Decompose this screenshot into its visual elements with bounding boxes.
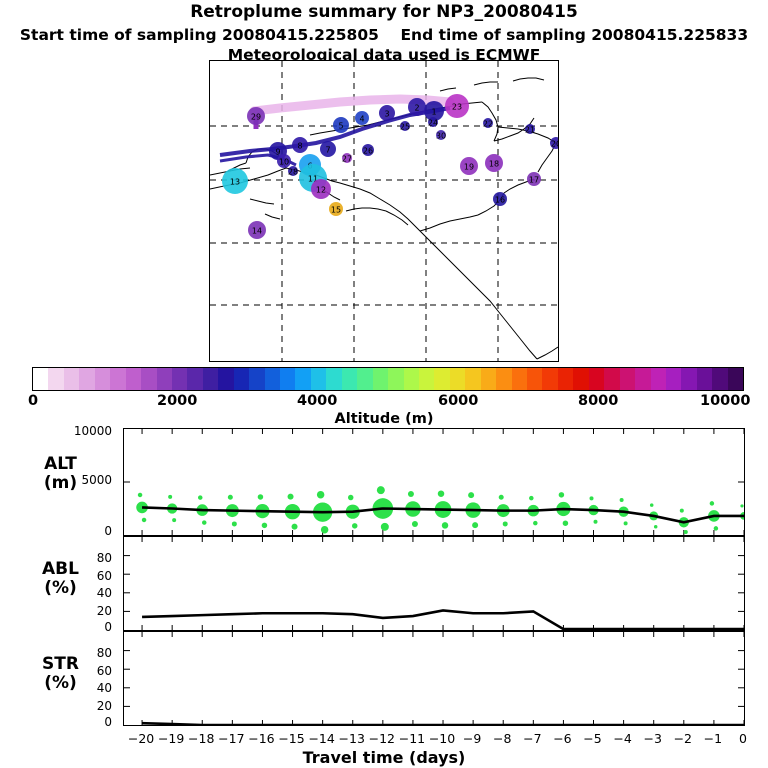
map-marker-label: 30 xyxy=(436,132,446,141)
map-marker-label: 2 xyxy=(414,104,419,113)
colorbar-segment xyxy=(234,368,249,390)
colorbar-tick-6000: 6000 xyxy=(438,393,478,409)
map-marker-label: 8 xyxy=(297,142,302,151)
colorbar-segment xyxy=(542,368,557,390)
colorbar-segment xyxy=(388,368,403,390)
alt-data-marker xyxy=(258,494,264,500)
colorbar-segment xyxy=(203,368,218,390)
alt-ytick-0: 0 xyxy=(56,524,112,538)
colorbar-segment xyxy=(573,368,588,390)
alt-data-marker xyxy=(590,496,594,500)
abl-ytick-80: 80 xyxy=(56,551,112,565)
alt-plot xyxy=(123,428,745,536)
alt-data-marker xyxy=(740,504,743,507)
sampling-times: Start time of sampling 20080415.225805 E… xyxy=(0,26,768,44)
map-marker-label: 10 xyxy=(279,158,289,167)
colorbar-segment xyxy=(404,368,419,390)
alt-data-marker xyxy=(412,521,418,527)
map-marker-label: 28 xyxy=(288,168,298,177)
colorbar-segment xyxy=(697,368,712,390)
map-marker-label: 25 xyxy=(400,123,410,132)
colorbar-segment xyxy=(465,368,480,390)
alt-axis-label-line1: ALT xyxy=(8,455,113,474)
str-plot-svg xyxy=(124,632,744,725)
map-marker-label: 3 xyxy=(384,110,389,119)
abl-plot xyxy=(123,536,745,631)
abl-ytick-40: 40 xyxy=(56,586,112,600)
colorbar-segment xyxy=(218,368,233,390)
colorbar-segment xyxy=(295,368,310,390)
alt-ytick-10000: 10000 xyxy=(56,424,112,438)
alt-data-marker xyxy=(228,495,233,500)
str-ytick-0: 0 xyxy=(56,715,112,729)
map-marker-label: 18 xyxy=(489,160,499,169)
alt-data-marker xyxy=(288,494,294,500)
colorbar-segment xyxy=(48,368,63,390)
abl-ytick-20: 20 xyxy=(56,604,112,618)
alt-data-marker xyxy=(168,495,172,499)
abl-ytick-0: 0 xyxy=(56,620,112,634)
colorbar-segment xyxy=(604,368,619,390)
x-axis-title: Travel time (days) xyxy=(0,748,768,767)
alt-data-marker xyxy=(172,518,176,522)
colorbar-segment xyxy=(79,368,94,390)
colorbar-segment xyxy=(681,368,696,390)
colorbar-segment xyxy=(249,368,264,390)
colorbar-segment xyxy=(265,368,280,390)
map-marker-label: 23 xyxy=(452,103,462,112)
map-marker-label: 9 xyxy=(275,148,280,157)
alt-data-marker xyxy=(202,520,207,525)
colorbar-segment xyxy=(496,368,511,390)
alt-data-marker xyxy=(292,524,298,530)
colorbar-segment xyxy=(95,368,110,390)
alt-data-marker xyxy=(442,522,449,529)
alt-data-marker xyxy=(438,490,445,497)
colorbar-tick-0: 0 xyxy=(28,393,38,409)
str-plot xyxy=(123,631,745,726)
abl-ytick-60: 60 xyxy=(56,569,112,583)
alt-data-marker xyxy=(559,492,565,498)
colorbar-segment xyxy=(280,368,295,390)
retroplume-map: 1234567891011121314151617181920212223242… xyxy=(209,60,559,362)
str-ytick-60: 60 xyxy=(56,664,112,678)
alt-data-marker xyxy=(262,523,268,529)
colorbar-segment xyxy=(589,368,604,390)
str-ytick-40: 40 xyxy=(56,681,112,695)
colorbar-segment xyxy=(712,368,727,390)
alt-data-marker xyxy=(684,530,688,534)
colorbar-segment xyxy=(157,368,172,390)
alt-data-marker xyxy=(710,501,715,506)
alt-data-marker xyxy=(620,498,624,502)
map-marker-label: 16 xyxy=(495,196,505,205)
colorbar-segment xyxy=(512,368,527,390)
page-title: Retroplume summary for NP3_20080415 xyxy=(0,2,768,22)
map-marker-label: 29 xyxy=(251,113,261,122)
str-ytick-80: 80 xyxy=(56,646,112,660)
map-marker-label: 24 xyxy=(428,119,438,128)
alt-data-marker xyxy=(563,520,569,526)
colorbar-title: Altitude (m) xyxy=(0,411,768,427)
map-marker-label: 7 xyxy=(325,146,330,155)
colorbar-segment xyxy=(728,368,743,390)
colorbar-segment xyxy=(666,368,681,390)
colorbar-segment xyxy=(357,368,372,390)
alt-data-marker xyxy=(594,520,598,524)
x-axis-tick-label: 0 xyxy=(723,731,763,746)
alt-data-marker xyxy=(468,492,474,498)
map-marker-label: 17 xyxy=(529,176,539,185)
colorbar-segment xyxy=(187,368,202,390)
alt-data-marker xyxy=(533,521,538,526)
alt-data-marker xyxy=(499,495,504,500)
colorbar-segment xyxy=(620,368,635,390)
colorbar-segment xyxy=(141,368,156,390)
alt-data-marker xyxy=(529,496,534,501)
colorbar-segment xyxy=(450,368,465,390)
alt-data-marker xyxy=(352,523,358,529)
colorbar-segment xyxy=(651,368,666,390)
colorbar-segment xyxy=(481,368,496,390)
map-marker-label: 20 xyxy=(551,140,558,149)
colorbar-segment xyxy=(434,368,449,390)
map-marker-label: 1 xyxy=(431,108,436,117)
colorbar-segment xyxy=(342,368,357,390)
alt-data-marker xyxy=(680,509,684,513)
map-marker-label: 13 xyxy=(230,178,240,187)
alt-data-marker xyxy=(142,518,147,523)
map-marker-label: 5 xyxy=(338,122,343,131)
alt-data-marker xyxy=(321,526,329,534)
map-marker-label: 26 xyxy=(363,147,373,156)
colorbar-segment xyxy=(64,368,79,390)
colorbar-segment xyxy=(419,368,434,390)
alt-data-marker xyxy=(714,526,719,531)
alt-data-marker xyxy=(503,521,508,526)
alt-data-marker xyxy=(232,521,237,526)
colorbar-tick-8000: 8000 xyxy=(578,393,618,409)
abl-plot-svg xyxy=(124,537,744,630)
map-svg: 1234567891011121314151617181920212223242… xyxy=(210,61,558,361)
alt-data-marker xyxy=(408,491,414,497)
alt-data-marker xyxy=(472,522,478,528)
alt-plot-svg xyxy=(124,429,744,535)
alt-data-marker xyxy=(381,523,389,531)
altitude-colorbar xyxy=(32,367,744,391)
map-marker-label: 19 xyxy=(464,163,474,172)
colorbar-tick-4000: 4000 xyxy=(297,393,337,409)
alt-data-marker xyxy=(317,491,325,499)
colorbar-segment xyxy=(172,368,187,390)
alt-data-marker xyxy=(654,525,658,529)
colorbar-segment xyxy=(558,368,573,390)
colorbar-segment xyxy=(635,368,650,390)
alt-data-marker xyxy=(650,503,654,507)
colorbar-tick-2000: 2000 xyxy=(157,393,197,409)
colorbar-segment xyxy=(33,368,48,390)
map-marker-label: 14 xyxy=(252,227,262,236)
map-marker-label: 4 xyxy=(359,115,364,124)
map-marker-label: 27 xyxy=(342,155,352,164)
str-ytick-20: 20 xyxy=(56,699,112,713)
map-marker-label: 22 xyxy=(483,120,493,129)
colorbar-segment xyxy=(311,368,326,390)
alt-data-marker xyxy=(348,495,354,501)
colorbar-segment xyxy=(527,368,542,390)
alt-data-marker xyxy=(138,493,143,498)
map-marker-label: 12 xyxy=(316,186,326,195)
alt-data-marker xyxy=(198,495,203,500)
colorbar-segment xyxy=(373,368,388,390)
map-marker-label: 15 xyxy=(331,206,341,215)
colorbar-segment xyxy=(326,368,341,390)
alt-data-marker xyxy=(377,486,385,494)
alt-data-marker xyxy=(624,521,628,525)
colorbar-segment xyxy=(126,368,141,390)
map-marker-label: 21 xyxy=(525,126,535,135)
colorbar-tick-10000: 10000 xyxy=(700,393,750,409)
alt-ytick-5000: 5000 xyxy=(56,473,112,487)
colorbar-segment xyxy=(110,368,125,390)
